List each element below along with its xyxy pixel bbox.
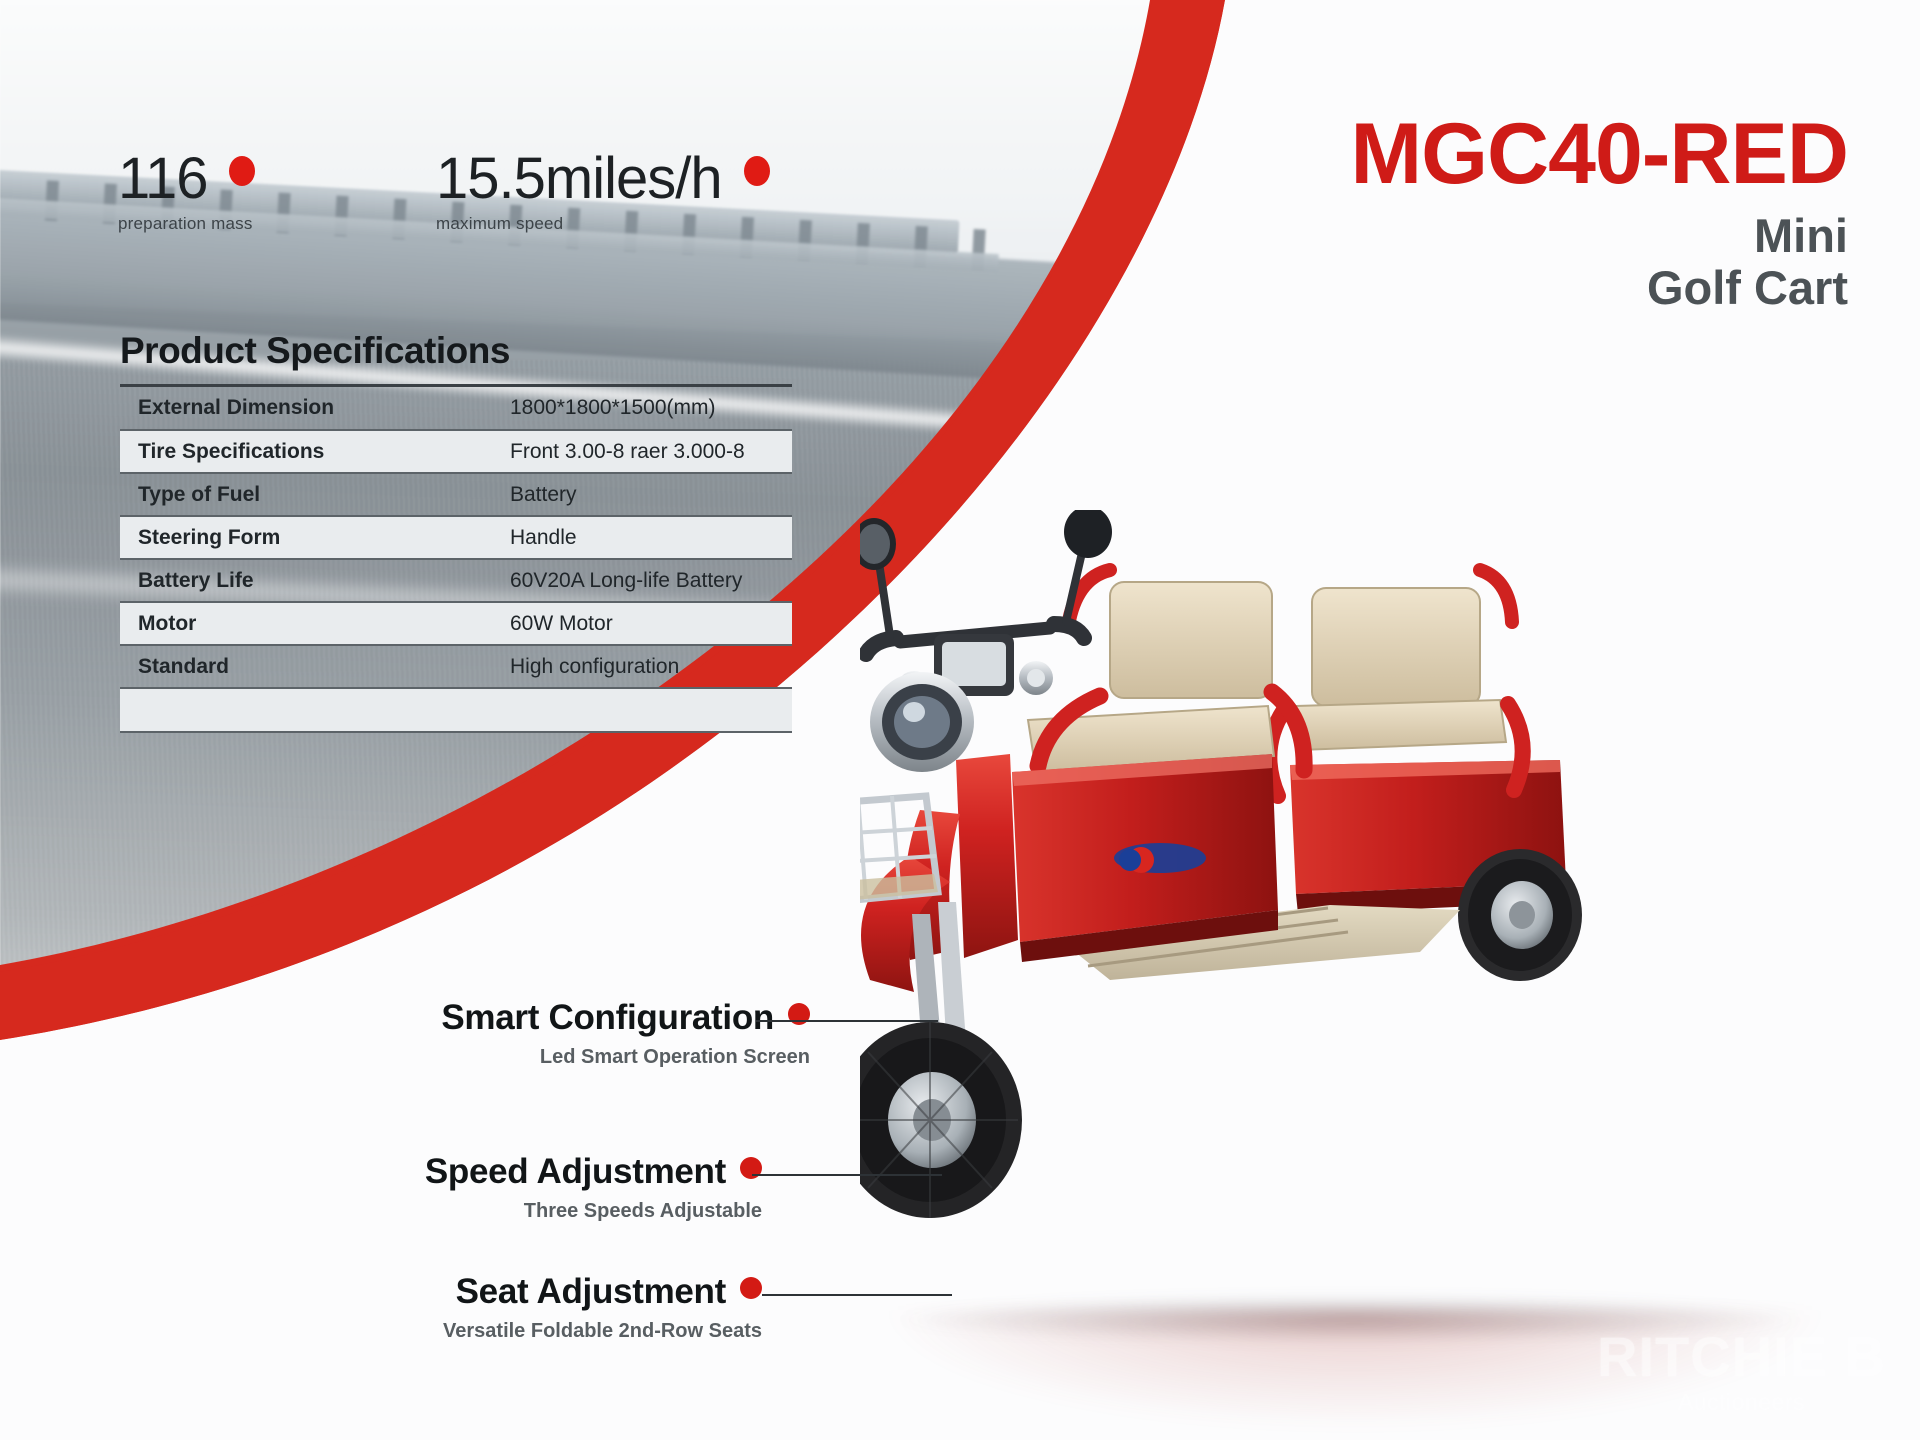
feature-title: Speed Adjustment [425,1152,762,1192]
spec-value: Front 3.00-8 raer 3.000-8 [510,430,792,473]
spec-table: External Dimension 1800*1800*1500(mm) Ti… [120,387,792,733]
red-dot-icon [229,156,255,186]
stat-preparation-mass: 116 preparation mass [118,150,255,234]
table-row: Type of Fuel Battery [120,473,792,516]
product-specifications-panel: Product Specifications External Dimensio… [120,330,792,733]
spec-value: 60V20A Long-life Battery [510,559,792,602]
rear-wheel [1458,849,1582,981]
spec-value [510,688,792,732]
product-category-line2: Golf Cart [1350,262,1848,314]
table-row: Motor 60W Motor [120,602,792,645]
product-category: Mini Golf Cart [1350,210,1848,313]
stat-value: 116 [118,150,255,208]
brand-decal [1114,843,1206,873]
red-dot-icon [740,1277,762,1299]
table-row: Battery Life 60V20A Long-life Battery [120,559,792,602]
feature-callout-smart-configuration: Smart Configuration Led Smart Operation … [441,998,810,1069]
watermark-brand: RITCHIE B [1597,1329,1886,1385]
feature-description: Three Speeds Adjustable [425,1200,762,1223]
spec-key: External Dimension [120,387,510,430]
feature-title: Smart Configuration [441,998,810,1038]
spec-heading: Product Specifications [120,330,792,372]
feature-description: Versatile Foldable 2nd-Row Seats [443,1320,762,1343]
stat-value: 15.5miles/h [436,150,770,208]
page-title: MGC40-RED [1350,112,1848,196]
product-image-electric-tricycle [860,510,1870,1390]
table-row: Tire Specifications Front 3.00-8 raer 3.… [120,430,792,473]
leader-line-speed-adjustment [752,1174,942,1176]
product-category-line1: Mini [1350,210,1848,262]
table-row: External Dimension 1800*1800*1500(mm) [120,387,792,430]
feature-callout-seat-adjustment: Seat Adjustment Versatile Foldable 2nd-R… [443,1272,762,1343]
table-row-empty [120,688,792,732]
spec-key: Standard [120,645,510,688]
feature-description: Led Smart Operation Screen [441,1046,810,1069]
watermark-tagline: Auctioneers [1597,1389,1886,1416]
product-marketing-poster: 116 preparation mass 15.5miles/h maximum… [0,0,1920,1440]
feature-callout-speed-adjustment: Speed Adjustment Three Speeds Adjustable [425,1152,762,1223]
spec-value: 1800*1800*1500(mm) [510,387,792,430]
spec-key: Steering Form [120,516,510,559]
spec-key: Tire Specifications [120,430,510,473]
product-title-block: MGC40-RED Mini Golf Cart [1350,112,1848,314]
feature-title: Seat Adjustment [443,1272,762,1312]
spec-key: Type of Fuel [120,473,510,516]
spec-key [120,688,510,732]
leader-line-seat-adjustment [762,1294,952,1296]
table-row: Standard High configuration [120,645,792,688]
key-stats-group: 116 preparation mass 15.5miles/h maximum… [118,150,878,240]
spec-value: Handle [510,516,792,559]
spec-value: 60W Motor [510,602,792,645]
spec-value: High configuration [510,645,792,688]
table-row: Steering Form Handle [120,516,792,559]
storage-battery-box [1012,754,1278,962]
spec-value: Battery [510,473,792,516]
stat-caption: preparation mass [118,214,255,234]
headlight [870,672,974,772]
watermark: RITCHIE B Auctioneers [1597,1329,1886,1416]
spec-key: Battery Life [120,559,510,602]
stat-maximum-speed: 15.5miles/h maximum speed [436,150,770,234]
leader-line-smart-configuration [756,1020,938,1022]
spec-key: Motor [120,602,510,645]
front-wheel [860,1022,1022,1218]
stat-caption: maximum speed [436,214,770,234]
red-dot-icon [744,156,770,186]
